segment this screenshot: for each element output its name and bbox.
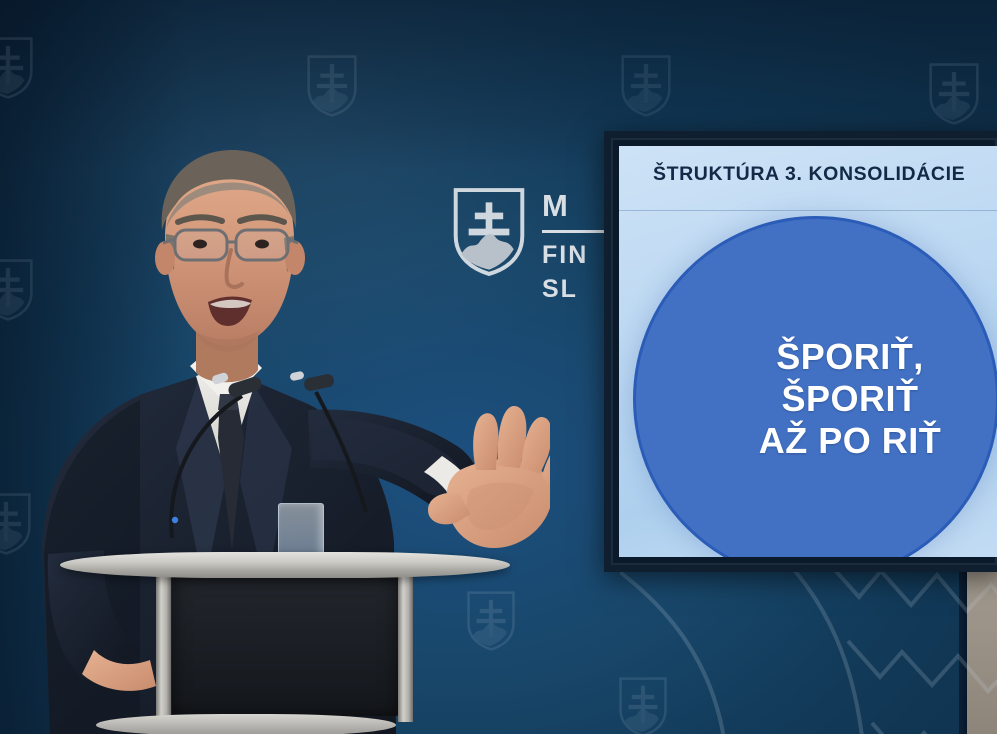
- slovak-coat-of-arms-watermark: [0, 492, 32, 556]
- backdrop-left-shadow: [0, 0, 190, 734]
- circle-line-2: ŠPORIŤ: [759, 378, 942, 420]
- microphone-base-left: [155, 506, 189, 552]
- podium-desktop: [60, 552, 510, 578]
- slovak-coat-of-arms: [452, 186, 526, 278]
- slovak-coat-of-arms-watermark: [306, 54, 358, 118]
- slide-circle-text: ŠPORIŤ, ŠPORIŤ AŽ PO RIŤ: [759, 336, 942, 461]
- slovak-coat-of-arms-watermark: [466, 590, 516, 652]
- water-glass: [278, 503, 324, 561]
- slide-canvas: ŠTRUKTÚRA 3. KONSOLIDÁCIE ŠPORIŤ, ŠPORIŤ…: [619, 146, 997, 557]
- screenshot-stage: M FIN SL: [0, 0, 997, 734]
- slovak-coat-of-arms-watermark: [928, 62, 980, 126]
- slovak-coat-of-arms-watermark: [0, 258, 34, 322]
- circle-line-3: AŽ PO RIŤ: [759, 420, 942, 462]
- slide-divider: [619, 210, 997, 211]
- microphone-head-right: [289, 371, 335, 392]
- circle-line-1: ŠPORIŤ,: [759, 336, 942, 378]
- slide-title: ŠTRUKTÚRA 3. KONSOLIDÁCIE: [653, 163, 965, 186]
- podium-base: [96, 714, 396, 734]
- presentation-screen[interactable]: ŠTRUKTÚRA 3. KONSOLIDÁCIE ŠPORIŤ, ŠPORIŤ…: [604, 131, 997, 572]
- microphone-head-left: [211, 372, 263, 399]
- microphone-base-right: [364, 500, 398, 546]
- slovak-coat-of-arms-watermark: [0, 36, 34, 100]
- slide-circle-shape: ŠPORIŤ, ŠPORIŤ AŽ PO RIŤ: [633, 216, 997, 557]
- podium-column-left: [156, 572, 171, 722]
- podium: [60, 552, 510, 734]
- backdrop-lineart-graphic: [620, 545, 997, 734]
- slovak-coat-of-arms-watermark: [620, 54, 672, 118]
- slovak-coat-of-arms-watermark: [618, 676, 668, 734]
- podium-column-right: [398, 572, 413, 722]
- podium-front-panel: [172, 576, 398, 716]
- ministry-logo: M FIN SL: [452, 186, 628, 302]
